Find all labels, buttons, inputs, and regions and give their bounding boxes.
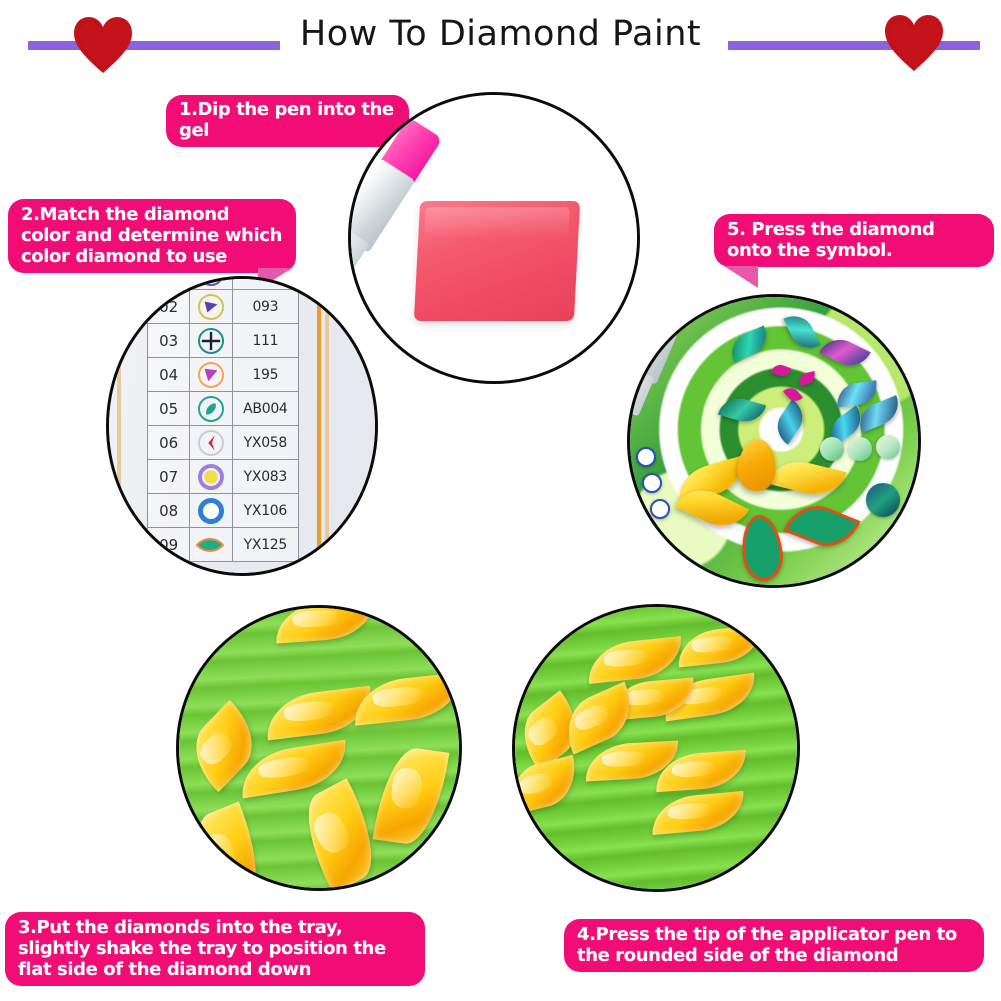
diamond-gem [515, 755, 583, 815]
table-row: 08 YX106 [148, 494, 299, 528]
table-row: 04 195 [148, 358, 299, 392]
chart-row-symbol [190, 324, 232, 358]
diamond-tray [179, 608, 459, 888]
chart-row-code: 111 [232, 324, 298, 358]
chart-row-symbol [190, 528, 232, 562]
chart-row-symbol [190, 290, 232, 324]
chart-row-code: YX125 [232, 528, 298, 562]
chart-row-code: 195 [232, 358, 298, 392]
smiley-symbol [198, 279, 224, 286]
step-4-photo [512, 604, 800, 892]
step-2-photo: 01 020 [106, 276, 378, 576]
table-row: 01 020 [148, 279, 299, 290]
mandala-canvas [630, 297, 918, 585]
chart-row-code: YX058 [232, 426, 298, 460]
leaf-symbol [198, 396, 224, 422]
corner-triangle-symbol [198, 362, 224, 388]
color-chart-table: 01 020 [147, 279, 299, 562]
chart-row-number: 04 [148, 358, 190, 392]
chart-row-code: AB004 [232, 392, 298, 426]
canvas-symbol-petal [739, 513, 786, 583]
chart-row-code: 020 [232, 279, 298, 290]
chart-row-symbol [190, 426, 232, 460]
canvas-printed-symbol [797, 371, 817, 386]
chart-row-number: 03 [148, 324, 190, 358]
chart-row-code: 093 [232, 290, 298, 324]
callout-pointer-step-5 [724, 266, 758, 288]
diamond-gem [274, 608, 376, 643]
canvas-printed-symbol [771, 362, 792, 378]
canvas-diamond [876, 435, 900, 459]
canvas-printed-symbol [642, 473, 662, 493]
marquise-symbol [198, 532, 224, 558]
diamond-gem [585, 636, 684, 684]
canvas-symbol-petal [783, 496, 860, 557]
canvas-diamond [767, 454, 846, 501]
chart-row-symbol [190, 494, 232, 528]
diamond-gem [179, 802, 274, 888]
infographic-canvas: How To Diamond Paint 1.Dip the pen into … [0, 0, 1001, 1001]
chart-row-number: 06 [148, 426, 190, 460]
diamond-gem [373, 744, 450, 848]
canvas-printed-symbol [650, 499, 670, 519]
chart-row-symbol [190, 392, 232, 426]
chart-row-number: 07 [148, 460, 190, 494]
color-chart-paper: 01 020 [109, 279, 375, 573]
canvas-diamond [820, 437, 844, 461]
chevron-symbol [198, 430, 224, 456]
table-row: 05 AB004 [148, 392, 299, 426]
plus-symbol [198, 328, 224, 354]
page-header: How To Diamond Paint [0, 0, 1001, 80]
step-5-photo [627, 294, 921, 588]
canvas-diamond [718, 393, 766, 426]
step-5-label: 5. Press the diamond onto the symbol. [714, 214, 994, 267]
chart-orange-line [317, 279, 321, 573]
chart-row-code: YX083 [232, 460, 298, 494]
chart-row-number: 08 [148, 494, 190, 528]
pen-barrel [515, 607, 561, 681]
diamond-gem [675, 625, 764, 668]
canvas-diamond [770, 399, 811, 444]
color-chart-body: 01 020 [148, 279, 299, 562]
step-3-label: 3.Put the diamonds into the tray, slight… [5, 912, 425, 986]
step-3-photo [176, 605, 462, 891]
canvas-printed-symbol [636, 447, 656, 467]
chart-row-symbol [190, 358, 232, 392]
chart-row-number: 05 [148, 392, 190, 426]
step-4-label: 4.Press the tip of the applicator pen to… [564, 919, 984, 972]
gel-pad [414, 201, 580, 321]
page-title: How To Diamond Paint [0, 14, 1001, 54]
heart-icon [883, 14, 945, 72]
ring-symbol [198, 498, 224, 524]
table-row: 03 111 [148, 324, 299, 358]
step-1-photo [348, 92, 640, 384]
canvas-diamond [848, 437, 872, 461]
heart-icon [72, 16, 134, 74]
filled-dot-symbol [198, 464, 224, 490]
chart-row-symbol [190, 460, 232, 494]
chart-row-number: 09 [148, 528, 190, 562]
table-row: 02 093 [148, 290, 299, 324]
table-row: 09 YX125 [148, 528, 299, 562]
diamond-tray [515, 607, 797, 889]
table-row: 07 YX083 [148, 460, 299, 494]
diamond-gem [650, 791, 747, 835]
chart-row-code: YX106 [232, 494, 298, 528]
chart-row-symbol [190, 279, 232, 290]
canvas-diamond [866, 483, 900, 517]
chart-orange-line-secondary [325, 279, 329, 573]
chart-row-number: 02 [148, 290, 190, 324]
chart-edge-stripe [117, 279, 121, 573]
canvas-diamond [725, 325, 772, 362]
canvas-diamond [819, 332, 870, 373]
table-row: 06 YX058 [148, 426, 299, 460]
chart-row-number: 01 [148, 279, 190, 290]
canvas-diamond [783, 309, 820, 355]
triangle-symbol [198, 294, 224, 320]
step-2-label: 2.Match the diamond color and determine … [8, 199, 296, 273]
diamond-gem [351, 672, 459, 725]
